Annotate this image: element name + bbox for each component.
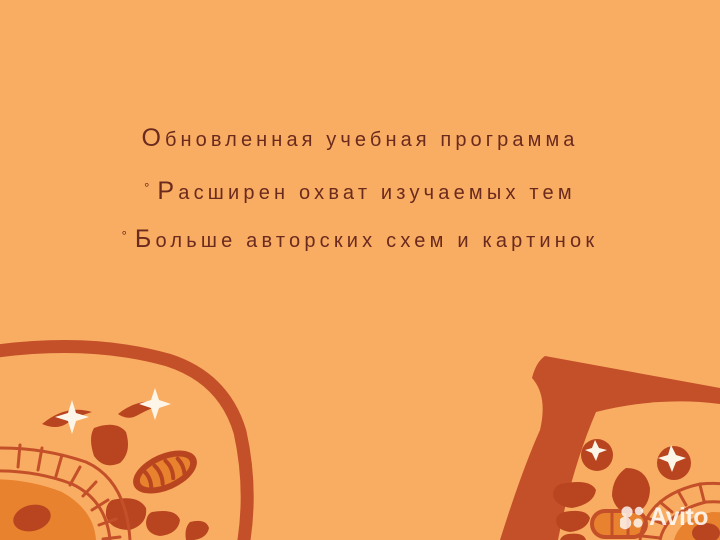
cell-biology-illustration bbox=[0, 0, 720, 540]
slide-canvas: Обновленная учебная программа °Расширен … bbox=[0, 0, 720, 540]
slide-text-block: Обновленная учебная программа °Расширен … bbox=[0, 126, 720, 252]
bullet-1-initial-cap: Р bbox=[157, 177, 178, 205]
bullet-2-rest: ольше авторских схем и картинок bbox=[155, 230, 598, 252]
degree-bullet-icon: ° bbox=[144, 180, 157, 195]
bullet-2-initial-cap: Б bbox=[135, 225, 156, 253]
bullet-1-rest: асширен охват изучаемых тем bbox=[178, 182, 576, 204]
round-vesicle bbox=[581, 439, 613, 471]
avito-watermark: Avito bbox=[620, 505, 708, 530]
slide-title: Обновленная учебная программа bbox=[0, 126, 720, 151]
bullet-line-2: °Больше авторских схем и картинок bbox=[0, 227, 720, 252]
avito-wordmark: Avito bbox=[649, 505, 708, 530]
bullet-line-1: °Расширен охват изучаемых тем bbox=[0, 179, 720, 204]
title-initial-cap: О bbox=[141, 124, 165, 152]
title-rest: бновленная учебная программа bbox=[165, 129, 579, 151]
avito-logo-icon bbox=[620, 506, 646, 530]
degree-bullet-icon: ° bbox=[122, 228, 135, 243]
